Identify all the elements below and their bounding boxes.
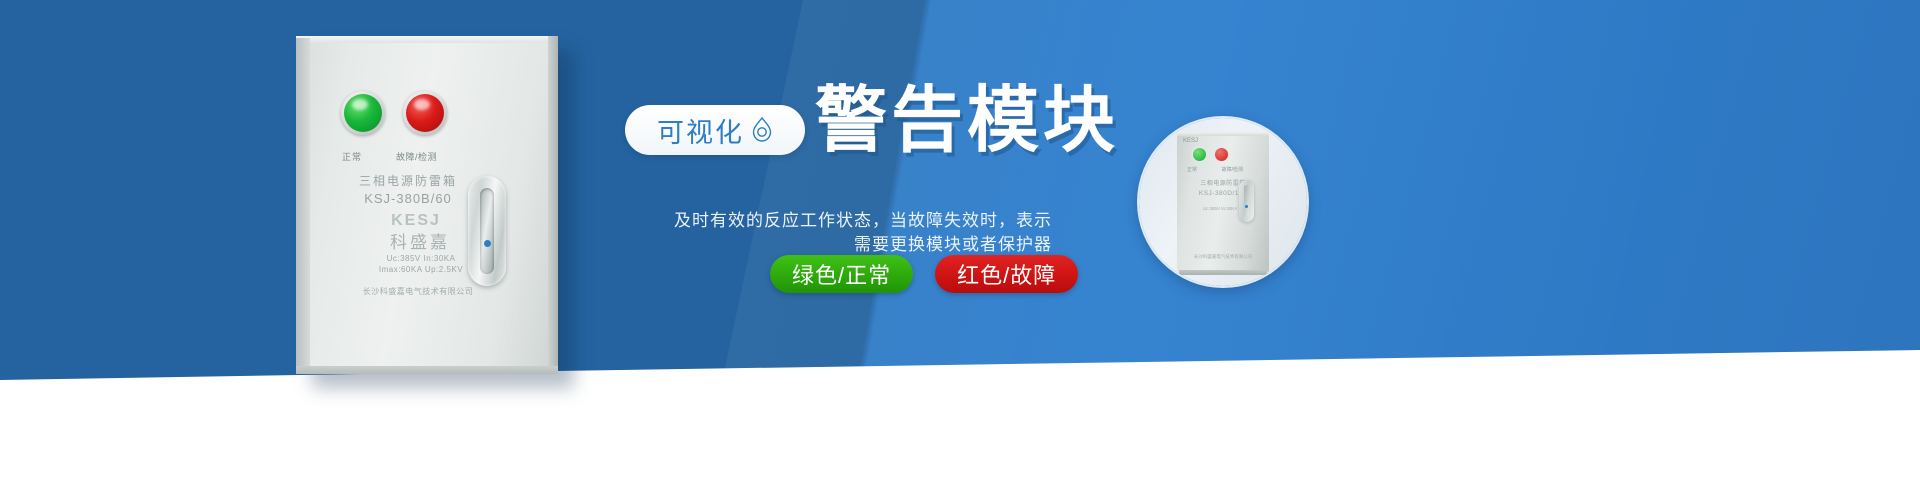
cabinet-bottom-edge [296,366,558,374]
inset-door-handle [1239,180,1254,222]
status-badges: 绿色/正常 红色/故障 [770,255,1078,293]
inset-label-normal: 正常 [1187,166,1197,173]
status-badge-normal: 绿色/正常 [770,255,913,293]
inset-handle-lock-dot [1245,205,1248,208]
inset-cabinet-top-edge [1177,132,1269,136]
inset-red-indicator-light [1215,148,1228,161]
inset-company: 长沙科盛嘉电气技术有限公司 [1181,254,1265,260]
inset-cabinet: KESJ 正常 故障/检测 三相电源防雷箱 KSJ-380D/120 Uc:38… [1177,132,1269,272]
company-name-text: 长沙科盛嘉电气技术有限公司 [318,286,518,297]
product-image: 正常 故障/检测 三相电源防雷箱 KSJ-380B/60 KESJ 科盛嘉 Uc… [296,36,558,374]
subtitle-line-1: 及时有效的反应工作状态，当故障失效时，表示 [674,206,1052,231]
subtitle-line-2: 需要更换模块或者保护器 [854,230,1052,255]
led-glare [414,99,430,110]
cabinet-left-edge [296,38,310,372]
inset-label-fault: 故障/检测 [1222,166,1243,173]
inset-brand-badge: KESJ [1183,138,1198,144]
handle-lock-dot [484,240,491,247]
inset-handle-slot [1244,185,1249,217]
status-badge-fault: 红色/故障 [935,255,1078,293]
visualization-pill: 可视化 [625,105,805,155]
inset-cabinet-base [1179,270,1267,275]
door-handle [468,176,506,286]
cabinet-top-edge [296,36,558,43]
inset-indicator-labels: 正常 故障/检测 [1187,166,1243,173]
page-title: 警告模块 [815,82,1119,160]
led-glare [352,99,368,110]
pill-label: 可视化 [657,111,744,150]
location-pin-icon [751,117,773,143]
product-cabinet: 正常 故障/检测 三相电源防雷箱 KSJ-380B/60 KESJ 科盛嘉 Uc… [296,36,558,374]
promo-banner: 正常 故障/检测 三相电源防雷箱 KSJ-380B/60 KESJ 科盛嘉 Uc… [0,0,1920,500]
label-fault: 故障/检测 [396,150,437,163]
cabinet-right-edge [548,36,558,374]
handle-slot [480,188,494,274]
product-inset-circle: KESJ 正常 故障/检测 三相电源防雷箱 KSJ-380D/120 Uc:38… [1139,118,1307,286]
label-normal: 正常 [342,150,362,163]
green-indicator-light [344,94,382,132]
inset-green-indicator-light [1193,148,1206,161]
red-indicator-light [406,94,444,132]
